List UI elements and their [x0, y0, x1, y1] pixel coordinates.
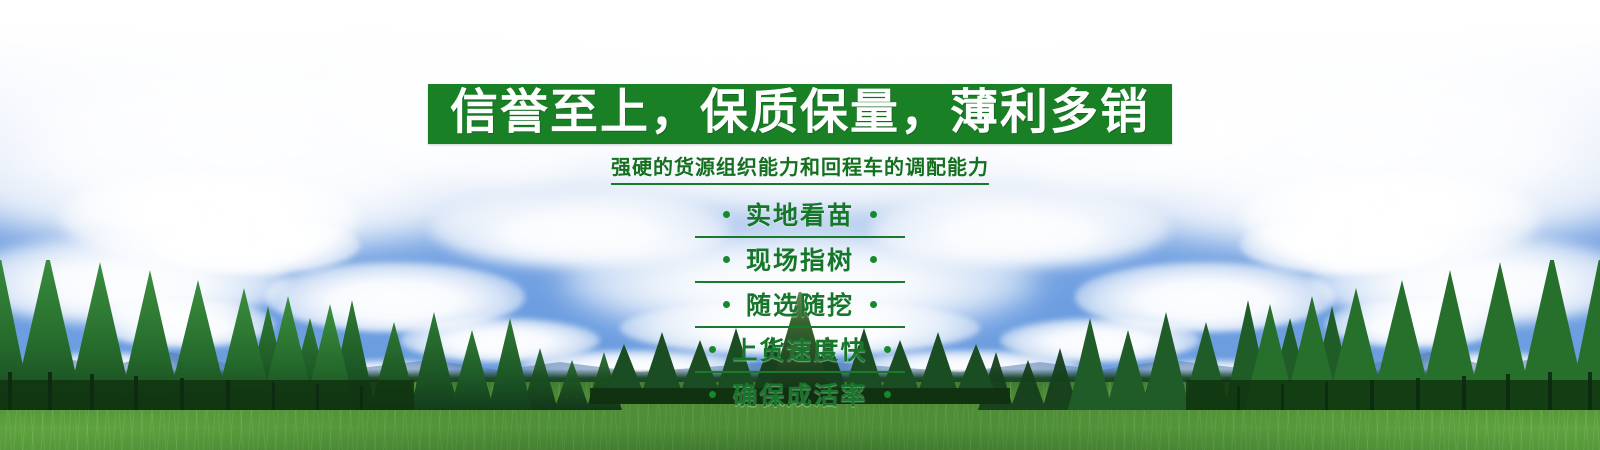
feature-label: 随选随挖: [746, 286, 854, 322]
promotional-banner: 信誉至上，保质保量，薄利多销 强硬的货源组织能力和回程车的调配能力 实地看苗 现…: [0, 0, 1600, 450]
banner-content: 信誉至上，保质保量，薄利多销 强硬的货源组织能力和回程车的调配能力 实地看苗 现…: [0, 0, 1600, 450]
feature-label: 实地看苗: [746, 196, 854, 232]
feature-label: 现场指树: [746, 241, 854, 277]
bullet-dot-icon: [870, 211, 877, 218]
feature-item-3: 随选随挖: [695, 283, 905, 328]
bullet-dot-icon: [884, 391, 891, 398]
feature-list: 实地看苗 现场指树 随选随挖 上货速度快 确保成活率: [695, 193, 905, 416]
bullet-dot-icon: [870, 256, 877, 263]
bullet-dot-icon: [709, 391, 716, 398]
feature-item-2: 现场指树: [695, 238, 905, 283]
bullet-dot-icon: [709, 346, 716, 353]
feature-label: 确保成活率: [732, 376, 867, 412]
bullet-dot-icon: [723, 256, 730, 263]
bullet-dot-icon: [723, 301, 730, 308]
feature-item-5: 确保成活率: [695, 373, 905, 416]
bullet-dot-icon: [884, 346, 891, 353]
headline-banner: 信誉至上，保质保量，薄利多销: [428, 84, 1172, 144]
bullet-dot-icon: [870, 301, 877, 308]
headline-text: 信誉至上，保质保量，薄利多销: [450, 88, 1150, 136]
feature-item-1: 实地看苗: [695, 193, 905, 238]
feature-item-4: 上货速度快: [695, 328, 905, 373]
feature-label: 上货速度快: [732, 331, 867, 367]
subtitle-text: 强硬的货源组织能力和回程车的调配能力: [611, 151, 989, 185]
bullet-dot-icon: [723, 211, 730, 218]
